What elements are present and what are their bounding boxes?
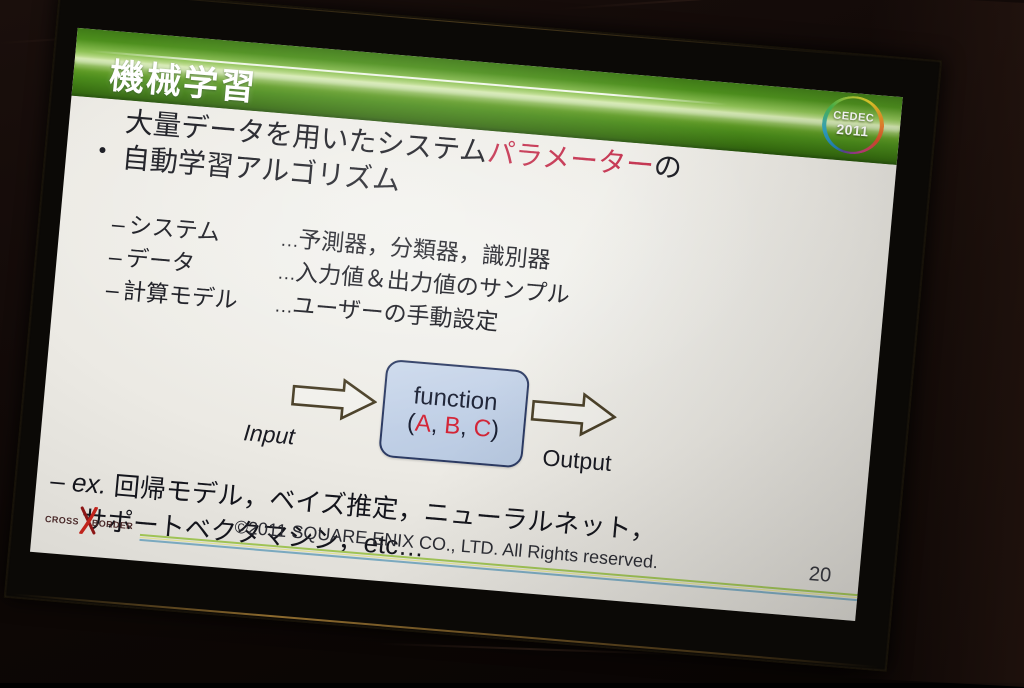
sub-lead: … (276, 262, 296, 284)
examples-prefix: ex. (71, 467, 108, 500)
right-arrow-icon (529, 387, 619, 440)
right-arrow-icon (289, 373, 379, 424)
function-flow-diagram: function (A, B, C) Input Output (229, 347, 708, 498)
projection-screen: 機械学習 CEDEC 2011 • 大量データを用いたシステムパラメーターの 自… (4, 0, 943, 672)
page-number: 20 (808, 563, 832, 588)
paren-close: ) (490, 416, 500, 444)
slide-body: • 大量データを用いたシステムパラメーターの 自動学習アルゴリズム – システム… (35, 96, 897, 568)
cedec-logo-year: 2011 (836, 122, 870, 139)
slide-surface: 機械学習 CEDEC 2011 • 大量データを用いたシステムパラメーターの 自… (30, 28, 903, 621)
output-label: Output (541, 444, 612, 477)
sub-lead: … (273, 295, 293, 317)
cedec-logo-icon: CEDEC 2011 (817, 91, 888, 158)
cedec-logo-text: CEDEC 2011 (817, 91, 888, 158)
sub-lead: … (279, 230, 299, 252)
sub-bullet-list: – システム …予測器，分類器，識別器 – データ …入力値＆出力値のサンプル … (105, 207, 871, 369)
function-arg-b: B (443, 412, 461, 440)
main-bullet-line1-suffix: の (652, 151, 683, 184)
function-args: (A, B, C) (406, 410, 500, 444)
input-label: Input (242, 419, 295, 450)
examples-dash: – (49, 465, 66, 496)
function-box: function (A, B, C) (378, 359, 530, 469)
function-arg-a: A (414, 410, 432, 438)
